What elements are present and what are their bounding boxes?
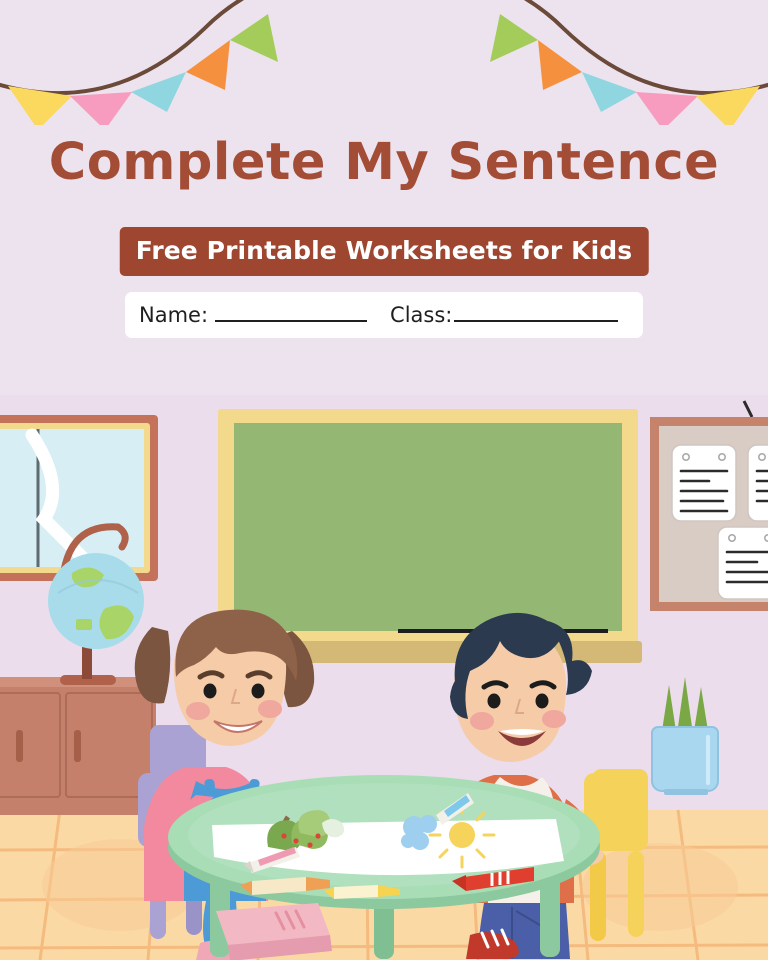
- girl-eye-left: [204, 684, 217, 699]
- boy-eye-left: [488, 694, 501, 709]
- bunting-flag-orange: [186, 40, 230, 90]
- bulletin-note: [748, 445, 768, 521]
- bulletin-note: [672, 445, 736, 521]
- boy-cheek-right: [542, 710, 566, 728]
- class-label: Class:: [390, 303, 452, 327]
- bunting-garland-right: [458, 0, 768, 130]
- girl-cheek-right: [258, 700, 282, 718]
- bulletin-note: [718, 527, 768, 599]
- bunting-garland-left: [0, 0, 310, 130]
- subtitle-banner: Free Printable Worksheets for Kids: [120, 227, 649, 276]
- bunting-flag-green: [230, 14, 278, 62]
- boy-eye-right: [536, 694, 549, 709]
- name-class-bar: Name: Class:: [125, 292, 643, 338]
- class-input-blank[interactable]: [454, 305, 618, 322]
- bunting-flag-green: [490, 14, 538, 62]
- boy-cheek-left: [470, 712, 494, 730]
- cabinet-handle: [74, 730, 81, 762]
- name-label: Name:: [139, 303, 208, 327]
- book-on-floor: [216, 903, 332, 960]
- bunting-flag-pink: [636, 92, 698, 125]
- page-title: Complete My Sentence: [0, 133, 768, 192]
- bulletin-board: [650, 401, 768, 611]
- bunting-flag-pink: [70, 92, 132, 125]
- classroom-illustration: [0, 395, 768, 960]
- bunting-flag-light-blue: [582, 72, 637, 112]
- classroom-window: [0, 415, 158, 581]
- subtitle-text: Free Printable Worksheets for Kids: [136, 236, 633, 265]
- bunting-flag-light-blue: [131, 72, 186, 112]
- name-input-blank[interactable]: [215, 305, 367, 322]
- worksheet-cover-page: Complete My Sentence Free Printable Work…: [0, 0, 768, 960]
- cabinet: [0, 677, 156, 815]
- class-field[interactable]: Class:: [390, 303, 618, 327]
- girl-cheek-left: [186, 702, 210, 720]
- bunting-flag-orange: [538, 40, 582, 90]
- name-field[interactable]: Name:: [139, 303, 367, 327]
- cabinet-handle: [16, 730, 23, 762]
- girl-eye-right: [252, 684, 265, 699]
